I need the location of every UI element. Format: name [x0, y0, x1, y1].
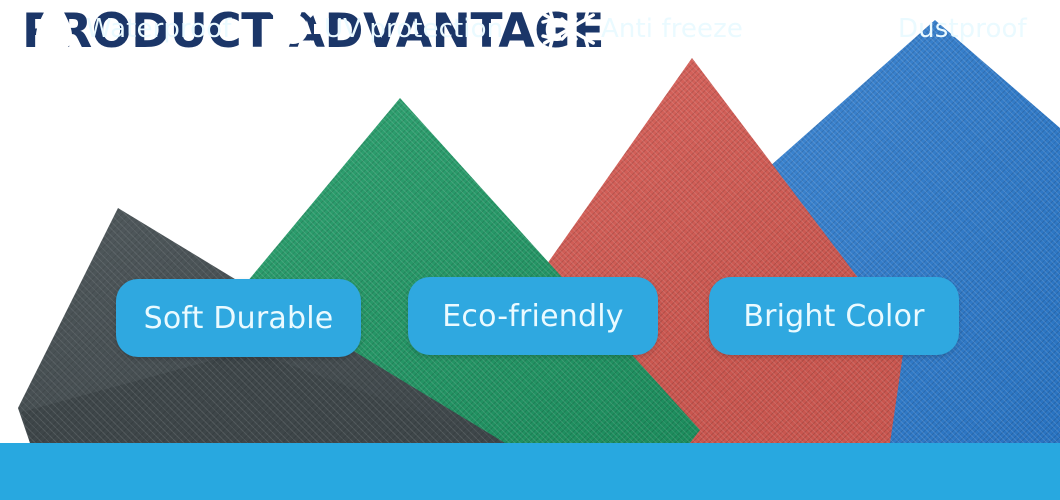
feature-label: UV protection [324, 14, 503, 44]
feature-bar [0, 443, 1060, 500]
advantage-pill-label: Bright Color [743, 299, 924, 334]
feature-uv-protection[interactable]: UV protection [266, 0, 503, 57]
feature-anti-freeze[interactable]: Anti freeze [543, 0, 743, 57]
feature-waterproof[interactable]: Waterproof [28, 0, 231, 57]
advantage-pill-label: Soft Durable [144, 301, 334, 336]
advantage-pill-soft-durable[interactable]: Soft Durable [116, 279, 361, 357]
dust-particles-icon [800, 0, 896, 57]
feature-dustproof[interactable]: Dustproof [800, 0, 1027, 57]
product-advantage-banner: PRODUCT ADVANTAGE Soft Durable Eco-frien… [0, 0, 1060, 500]
advantage-pill-label: Eco-friendly [442, 299, 623, 334]
charcoal-sheet-fold [0, 0, 1060, 500]
advantage-pill-bright-color[interactable]: Bright Color [709, 277, 959, 355]
advantage-pill-eco-friendly[interactable]: Eco-friendly [408, 277, 658, 355]
water-drop-icon [28, 0, 80, 57]
fabric-sheets-group [0, 0, 1060, 500]
snowflake-icon [543, 0, 595, 57]
feature-label: Waterproof [86, 14, 231, 44]
charcoal-fold-weave [0, 0, 1060, 500]
sun-icon [266, 0, 318, 57]
feature-label: Anti freeze [601, 14, 743, 44]
feature-label: Dustproof [898, 14, 1027, 44]
